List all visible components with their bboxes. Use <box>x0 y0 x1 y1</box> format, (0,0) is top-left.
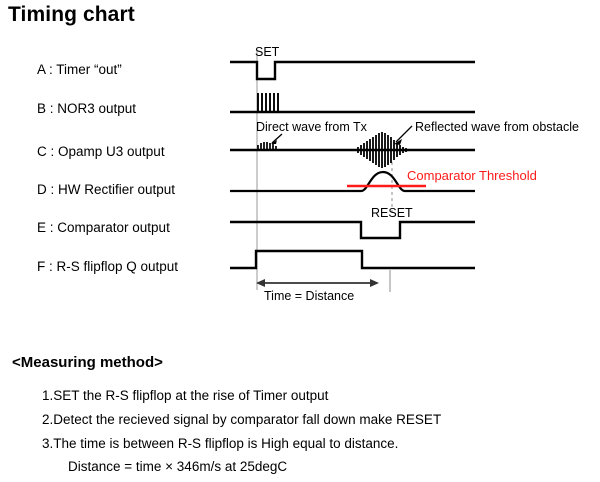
timing-waveform-chart: SET Di <box>0 0 600 330</box>
measuring-method-step-1: 1.SET the R-S flipflop at the rise of Ti… <box>42 388 328 403</box>
reset-label: RESET <box>371 206 413 220</box>
time-distance-label: Time = Distance <box>264 289 354 303</box>
reflected-wave-label: Reflected wave from obstacle <box>415 120 579 134</box>
set-label: SET <box>255 45 280 59</box>
distance-formula: Distance = time × 346m/s at 25degC <box>68 459 287 474</box>
waveform-f-flipflop-q-output <box>230 251 475 268</box>
waveform-e-comparator-output <box>230 222 475 238</box>
comparator-threshold-label: Comparator Threshold <box>407 168 537 183</box>
time-distance-arrow <box>256 279 379 287</box>
waveform-b-pulse-train <box>258 93 278 112</box>
reflected-wave-arrow-icon <box>394 126 412 145</box>
measuring-method-heading: <Measuring method> <box>12 354 163 371</box>
measuring-method-step-3: 3.The time is between R-S flipflop is Hi… <box>42 436 398 451</box>
waveform-a-timer-out <box>230 62 475 79</box>
measuring-method-step-2: 2.Detect the recieved signal by comparat… <box>42 412 441 427</box>
direct-wave-arrow-icon <box>271 134 282 144</box>
direct-wave-label: Direct wave from Tx <box>256 120 368 134</box>
